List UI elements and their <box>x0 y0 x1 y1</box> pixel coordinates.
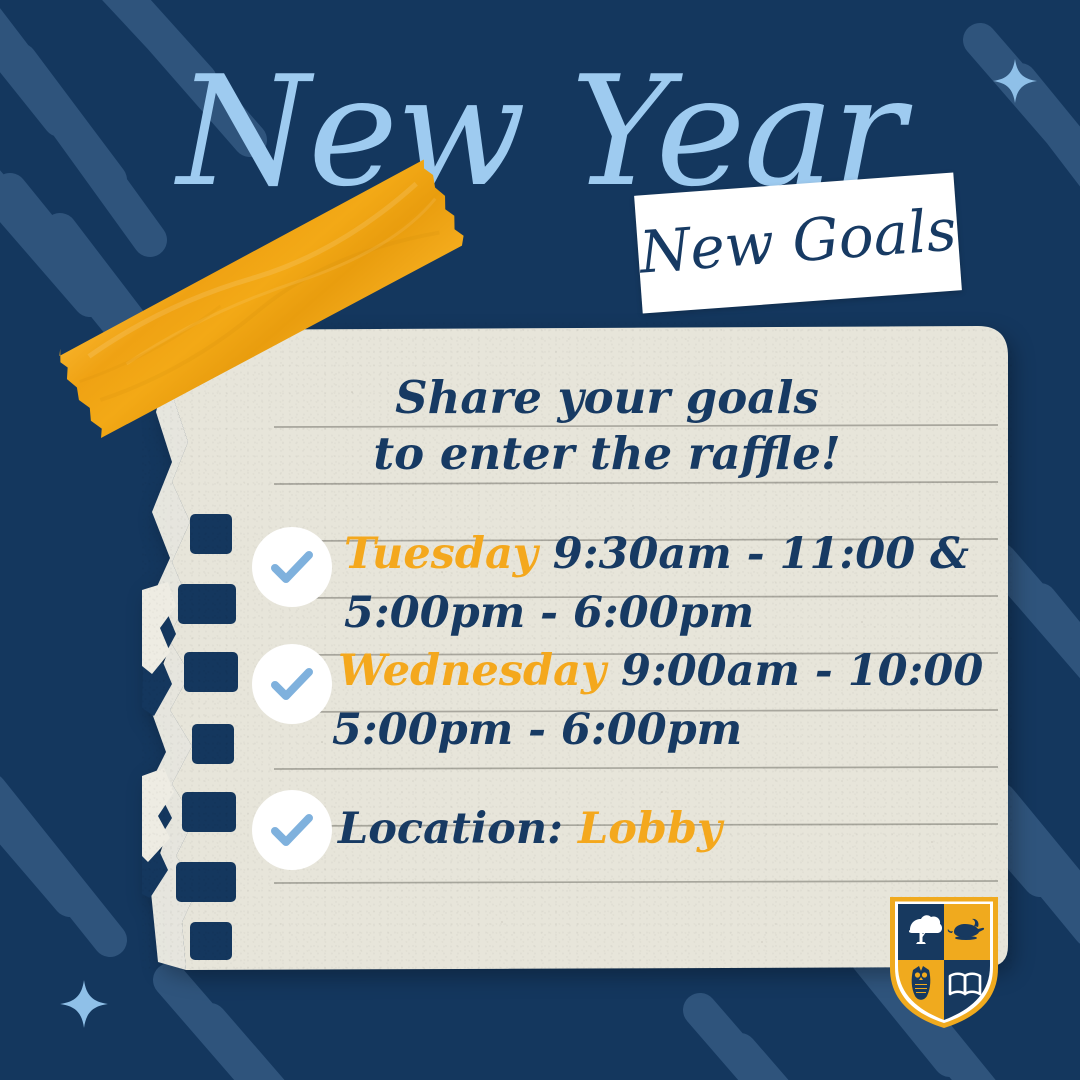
location-value: Lobby <box>578 804 722 854</box>
list-item-text: Location: Lobby <box>338 800 1004 859</box>
list-item-line-2: 5:00pm - 6:00pm <box>332 701 1004 760</box>
list-item-line-2: 5:00pm - 6:00pm <box>344 584 1004 643</box>
check-icon <box>252 527 332 607</box>
day-label: Wednesday <box>338 646 606 696</box>
list-item-text: Tuesday 9:30am - 11:00 & 5:00pm - 6:00pm <box>344 525 1004 643</box>
time-value: 9:00am - 10:00 <box>621 646 983 696</box>
list-item-text: Wednesday 9:00am - 10:00 5:00pm - 6:00pm <box>338 642 1004 760</box>
note-headline-line-1: Share your goals <box>262 370 952 426</box>
check-icon <box>252 790 332 870</box>
list-item-line-1: Location: Lobby <box>338 800 1004 859</box>
subtitle-banner: New Goals <box>634 172 962 313</box>
list-item-line-1: Wednesday 9:00am - 10:00 <box>338 642 1004 701</box>
note-content: Share your goals to enter the raffle! Tu… <box>142 322 1012 972</box>
note-headline: Share your goals to enter the raffle! <box>262 370 952 482</box>
day-label: Tuesday <box>344 529 538 579</box>
list-item-line-1: Tuesday 9:30am - 11:00 & <box>344 525 1004 584</box>
sparkle-icon <box>58 978 110 1035</box>
time-value: 9:30am - 11:00 & <box>553 529 969 579</box>
location-label: Location: <box>338 804 563 854</box>
check-icon <box>252 644 332 724</box>
university-shield-crest <box>886 894 1002 1029</box>
poster-canvas: New Year New Goals <box>0 0 1080 1080</box>
note-headline-line-2: to enter the raffle! <box>262 426 952 482</box>
owl-icon <box>912 966 931 1000</box>
subtitle-text: New Goals <box>637 200 958 281</box>
